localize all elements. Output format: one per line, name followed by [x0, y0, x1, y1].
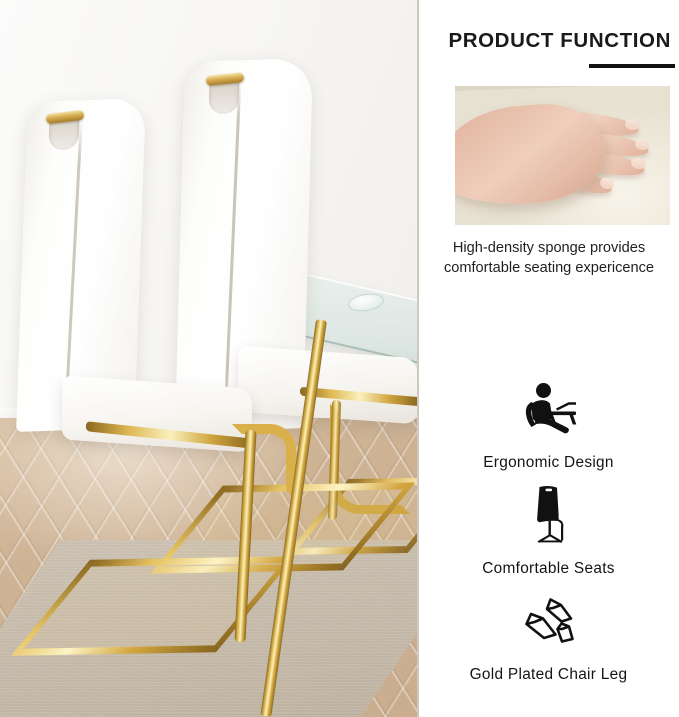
sponge-caption: High-density sponge provides comfortable…: [436, 239, 662, 278]
feature-gold-plated-chair-leg: Gold Plated Chair Leg: [418, 590, 679, 684]
chair-silhouette-icon: [418, 484, 679, 546]
page-title: PRODUCT FUNCTION: [418, 29, 671, 53]
feature-label: Comfortable Seats: [418, 560, 679, 578]
panel-divider: [417, 0, 419, 717]
feature-ergonomic-design: Ergonomic Design: [418, 378, 679, 472]
person-sitting-at-desk-icon: [418, 378, 679, 440]
gold-bars-icon: [418, 590, 679, 652]
feature-comfortable-seats: Comfortable Seats: [418, 484, 679, 578]
sponge-photo: [455, 86, 670, 225]
product-feature-page: PRODUCT FUNCTION High-density sponge pro…: [0, 0, 679, 717]
feature-label: Gold Plated Chair Leg: [418, 666, 679, 684]
info-panel: PRODUCT FUNCTION High-density sponge pro…: [418, 0, 679, 717]
title-underline: [589, 64, 675, 68]
feature-label: Ergonomic Design: [418, 454, 679, 472]
product-photo: [0, 0, 418, 717]
